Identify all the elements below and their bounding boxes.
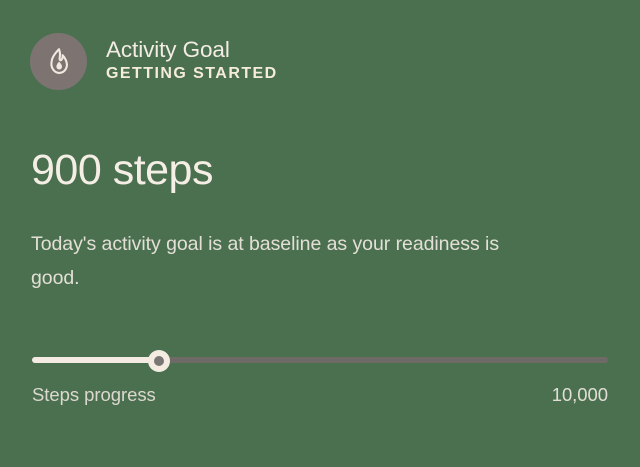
goal-headline: 900 steps bbox=[31, 149, 213, 192]
slider-thumb-core bbox=[154, 356, 164, 366]
slider-labels: Steps progress 10,000 bbox=[32, 384, 608, 406]
slider-fill bbox=[32, 357, 159, 363]
card-eyebrow-status: GETTING STARTED bbox=[106, 66, 278, 83]
header-text-group: Activity Goal GETTING STARTED bbox=[106, 38, 278, 85]
flame-icon bbox=[30, 33, 87, 90]
activity-goal-card: Activity Goal GETTING STARTED 900 steps … bbox=[0, 0, 640, 467]
goal-description: Today's activity goal is at baseline as … bbox=[31, 228, 531, 295]
card-header: Activity Goal GETTING STARTED bbox=[30, 33, 278, 90]
card-title: Activity Goal bbox=[106, 38, 278, 62]
steps-progress-slider[interactable] bbox=[32, 352, 608, 368]
slider-left-label: Steps progress bbox=[32, 384, 156, 406]
slider-right-label: 10,000 bbox=[552, 384, 608, 406]
slider-thumb[interactable] bbox=[148, 350, 170, 372]
